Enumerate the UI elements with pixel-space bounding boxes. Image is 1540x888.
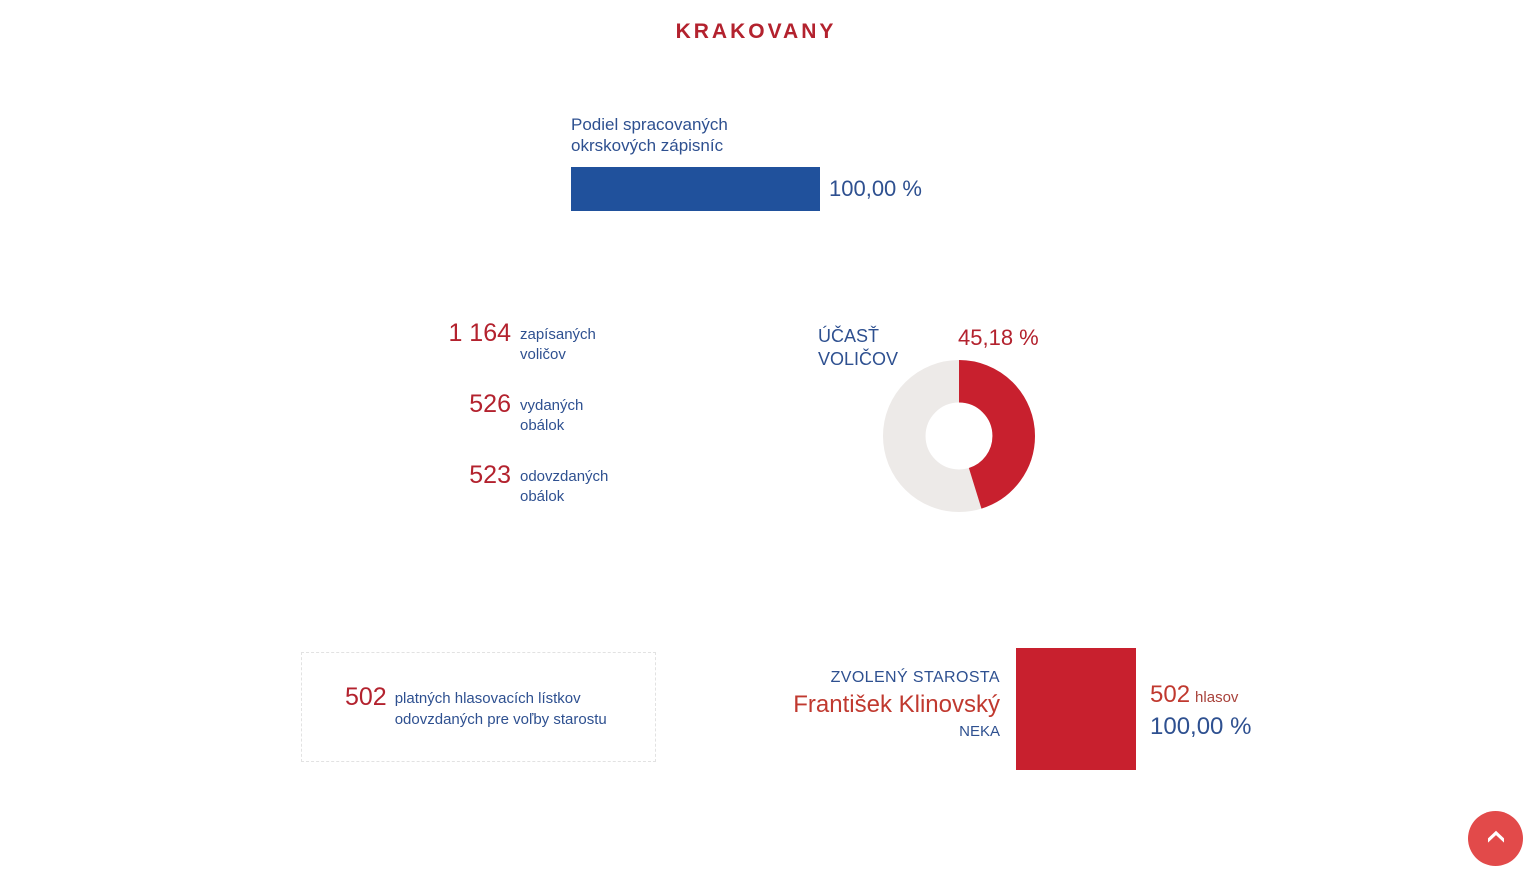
elected-mayor-votes: 502 — [1150, 681, 1190, 708]
scroll-to-top-button[interactable] — [1468, 811, 1523, 866]
elected-mayor-heading: ZVOLENÝ STAROSTA — [760, 668, 1000, 688]
elected-mayor-name: František Klinovský — [760, 690, 1000, 720]
voter-turnout-donut-chart — [883, 360, 1035, 512]
stat-label: odovzdaných obálok — [520, 462, 660, 507]
stat-number: 523 — [469, 462, 520, 489]
voter-stats-list: 1 164 zapísaných voličov 526 vydaných ob… — [330, 320, 660, 533]
chevron-up-icon — [1483, 826, 1509, 852]
voter-turnout-value: 45,18 % — [958, 325, 1039, 351]
processed-protocols-bar-track — [571, 167, 820, 211]
elected-mayor-block: ZVOLENÝ STAROSTA František Klinovský NEK… — [760, 648, 1251, 770]
processed-protocols-value: 100,00 % — [829, 176, 922, 202]
voter-turnout-block: ÚČASŤ VOLIČOV 45,18 % — [800, 320, 1100, 530]
processed-protocols-bar-row: 100,00 % — [571, 167, 922, 211]
processed-protocols-bar-fill — [571, 167, 820, 211]
elected-mayor-color-swatch — [1016, 648, 1136, 770]
elected-mayor-results: 502hlasov 100,00 % — [1136, 648, 1251, 742]
page-title: KRAKOVANY — [0, 20, 1512, 44]
stat-label: vydaných obálok — [520, 391, 660, 436]
elected-mayor-votes-unit: hlasov — [1195, 689, 1238, 706]
elected-mayor-percent: 100,00 % — [1150, 712, 1251, 742]
valid-ballots-box: 502 platných hlasovacích lístkov odovzda… — [301, 652, 656, 762]
stat-label: zapísaných voličov — [520, 320, 660, 365]
stat-number: 1 164 — [448, 320, 520, 347]
valid-ballots-label: platných hlasovacích lístkov odovzdaných… — [395, 684, 607, 730]
elected-mayor-votes-line: 502hlasov — [1150, 681, 1251, 712]
elected-mayor-party: NEKA — [760, 722, 1000, 742]
list-item: 523 odovzdaných obálok — [330, 462, 660, 507]
processed-protocols-block: Podiel spracovaných okrskových zápisníc … — [571, 114, 922, 211]
processed-protocols-label: Podiel spracovaných okrskových zápisníc — [571, 114, 922, 156]
elected-mayor-texts: ZVOLENÝ STAROSTA František Klinovský NEK… — [760, 648, 1016, 742]
valid-ballots-number: 502 — [345, 684, 395, 711]
list-item: 526 vydaných obálok — [330, 391, 660, 436]
valid-ballots-inner: 502 platných hlasovacích lístkov odovzda… — [345, 684, 607, 730]
stat-number: 526 — [469, 391, 520, 418]
list-item: 1 164 zapísaných voličov — [330, 320, 660, 365]
